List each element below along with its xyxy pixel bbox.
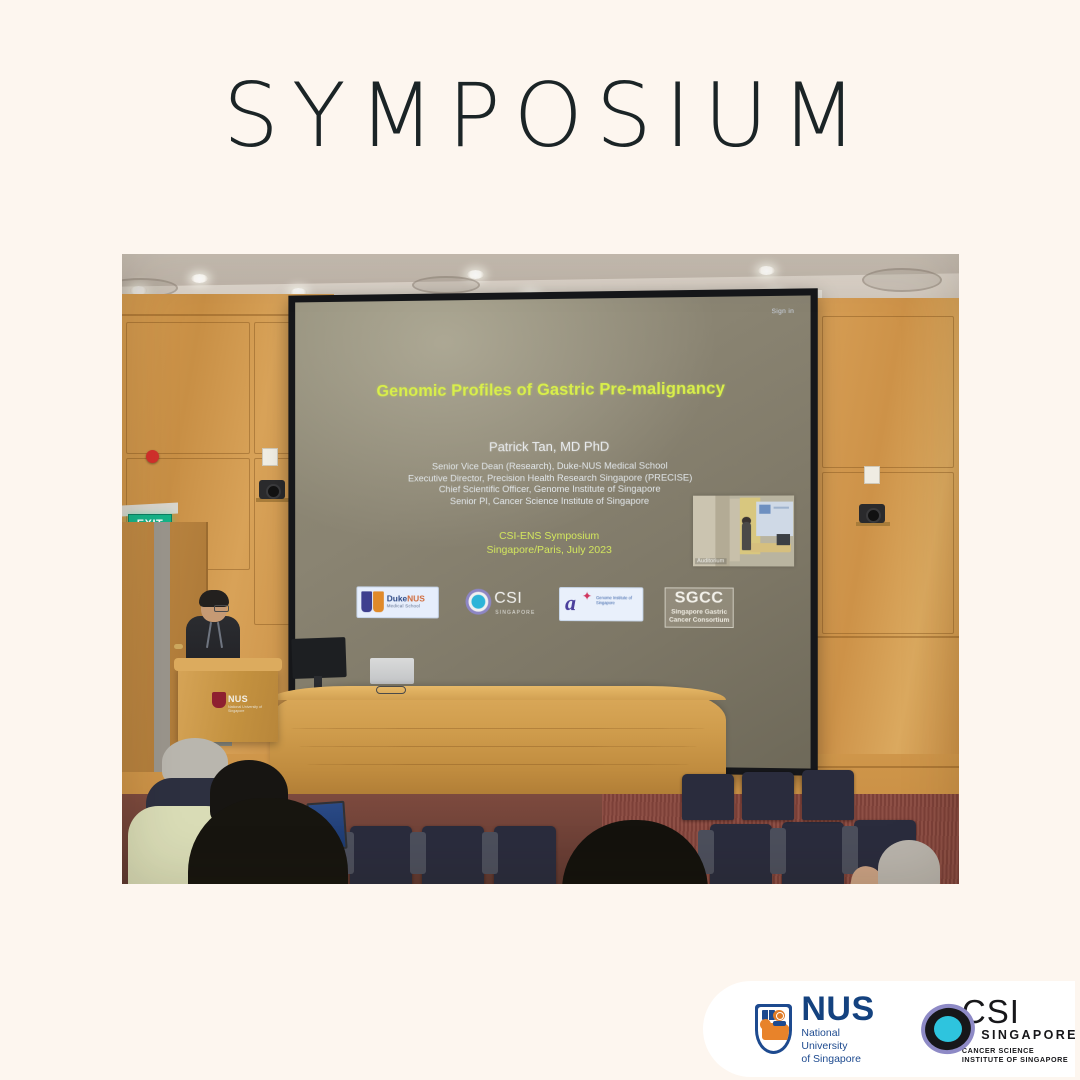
logo-genome-institute: a ✦ Genome Institute of Singapore bbox=[559, 587, 643, 621]
duke-shield-icon bbox=[361, 591, 372, 612]
gis-a-glyph: a bbox=[565, 592, 576, 614]
wall-switch-plate[interactable] bbox=[262, 448, 278, 466]
seat-armrest bbox=[842, 826, 858, 874]
page-title: SYMPOSIUM bbox=[0, 72, 1080, 160]
video-person-body bbox=[742, 522, 751, 550]
logo-sgcc: SGCC Singapore Gastric Cancer Consortium bbox=[665, 587, 734, 628]
nus-word: NUS bbox=[407, 593, 425, 603]
desk-groove bbox=[290, 728, 706, 729]
wall-panel bbox=[126, 322, 250, 454]
camera-icon bbox=[859, 504, 885, 523]
csi-wordmark: CSI SINGAPORE CANCER SCIENCE INSTITUTE O… bbox=[962, 995, 1078, 1064]
gis-star-icon: ✦ bbox=[582, 591, 592, 601]
video-door bbox=[730, 499, 740, 562]
ceiling-light bbox=[758, 266, 775, 275]
auditorium-seat bbox=[742, 772, 794, 820]
lectern-top bbox=[174, 658, 282, 671]
video-wall bbox=[693, 496, 715, 567]
wall-seam bbox=[812, 636, 959, 638]
door-knob[interactable] bbox=[174, 644, 183, 649]
video-projection-thumb bbox=[759, 505, 770, 514]
nus-fullname-line2: of Singapore bbox=[801, 1053, 879, 1066]
lectern-nus-subtitle: National University of Singapore bbox=[228, 705, 278, 714]
csi-country: SINGAPORE bbox=[962, 1028, 1078, 1043]
ceiling-vent bbox=[412, 276, 480, 294]
logo-gis-subtitle: Genome Institute of Singapore bbox=[596, 595, 642, 605]
nus-shield-icon bbox=[755, 1004, 792, 1054]
nus-acronym: NUS bbox=[801, 992, 879, 1026]
csi-core-icon bbox=[471, 595, 485, 609]
nus-shield-field bbox=[758, 1007, 789, 1051]
video-tile-label: Auditorium bbox=[695, 558, 726, 564]
camera-icon bbox=[259, 480, 285, 499]
auditorium-seat bbox=[710, 824, 772, 884]
desk-groove bbox=[298, 746, 698, 747]
stage-laptop bbox=[370, 658, 414, 684]
nus-wordmark: NUS National University of Singapore bbox=[801, 992, 879, 1066]
video-tile-auditorium[interactable]: Auditorium bbox=[693, 495, 794, 566]
csi-fullname: CANCER SCIENCE INSTITUTE OF SINGAPORE bbox=[962, 1046, 1078, 1064]
auditorium-seat bbox=[350, 826, 412, 884]
seat-armrest bbox=[410, 832, 426, 874]
lectern: NUS National University of Singapore bbox=[178, 664, 278, 742]
video-wall bbox=[715, 496, 729, 567]
brand-badge: NUS National University of Singapore CSI… bbox=[703, 981, 1075, 1077]
seat-armrest bbox=[770, 828, 786, 874]
auditorium-seat bbox=[782, 822, 844, 884]
emergency-button bbox=[146, 450, 159, 463]
logo-duke-nus: DukeNUS Medical School bbox=[356, 586, 438, 618]
ceiling-vent bbox=[862, 268, 942, 292]
logo-duke-nus-subtitle: Medical School bbox=[387, 603, 420, 608]
lectern-nus-shield-icon bbox=[212, 692, 226, 708]
logo-sgcc-wordmark: SGCC bbox=[666, 589, 733, 607]
auditorium-seat bbox=[494, 826, 556, 884]
slide-speaker-name: Patrick Tan, MD PhD bbox=[295, 438, 810, 456]
ceiling-light bbox=[191, 274, 208, 283]
wall-panel bbox=[822, 316, 954, 468]
sign-in-label[interactable]: Sign in bbox=[772, 308, 795, 315]
eyeglasses bbox=[376, 686, 406, 694]
auditorium-seat bbox=[682, 774, 734, 820]
auditorium-seat bbox=[422, 826, 484, 884]
stage-monitor bbox=[291, 637, 346, 679]
door-jamb bbox=[154, 522, 170, 772]
nus-logo: NUS National University of Singapore bbox=[755, 992, 879, 1066]
logo-csi-wordmark: CSI bbox=[494, 590, 522, 608]
desk-groove bbox=[306, 764, 690, 765]
seat-armrest bbox=[482, 832, 498, 874]
nus-fullname-line1: National University bbox=[801, 1027, 879, 1052]
stage-desk-lip bbox=[270, 686, 726, 700]
video-projection-line bbox=[774, 507, 789, 509]
wall-switch-plate[interactable] bbox=[864, 466, 880, 484]
logo-csi-singapore: CSI SINGAPORE bbox=[466, 587, 539, 621]
nus-shield-icon bbox=[373, 591, 384, 612]
scroll-icon bbox=[773, 1021, 786, 1026]
rings-icon bbox=[773, 1010, 785, 1021]
auditorium-seat bbox=[802, 770, 854, 820]
logo-sgcc-subtitle: Singapore Gastric Cancer Consortium bbox=[666, 609, 733, 625]
speaker-glasses bbox=[214, 605, 229, 612]
video-projection bbox=[756, 502, 793, 536]
video-monitor bbox=[777, 534, 790, 545]
csi-ring-icon bbox=[921, 1002, 956, 1056]
lectern-nus-wordmark: NUS bbox=[228, 694, 248, 704]
duke-word: Duke bbox=[387, 593, 407, 603]
logo-duke-nus-wordmark: DukeNUS bbox=[387, 593, 425, 603]
wall-panel bbox=[822, 472, 954, 634]
slide-logo-row: DukeNUS Medical School CSI SINGAPORE a ✦… bbox=[295, 586, 810, 628]
event-photo: EXIT Sign in Genomic Profiles of Gastric… bbox=[122, 254, 959, 884]
affiliation-line: Chief Scientific Officer, Genome Institu… bbox=[295, 483, 810, 496]
slide-title: Genomic Profiles of Gastric Pre-malignan… bbox=[295, 379, 810, 402]
csi-acronym: CSI bbox=[962, 995, 1078, 1028]
logo-csi-subtitle: SINGAPORE bbox=[495, 610, 535, 616]
csi-logo: CSI SINGAPORE CANCER SCIENCE INSTITUTE O… bbox=[921, 995, 1078, 1064]
